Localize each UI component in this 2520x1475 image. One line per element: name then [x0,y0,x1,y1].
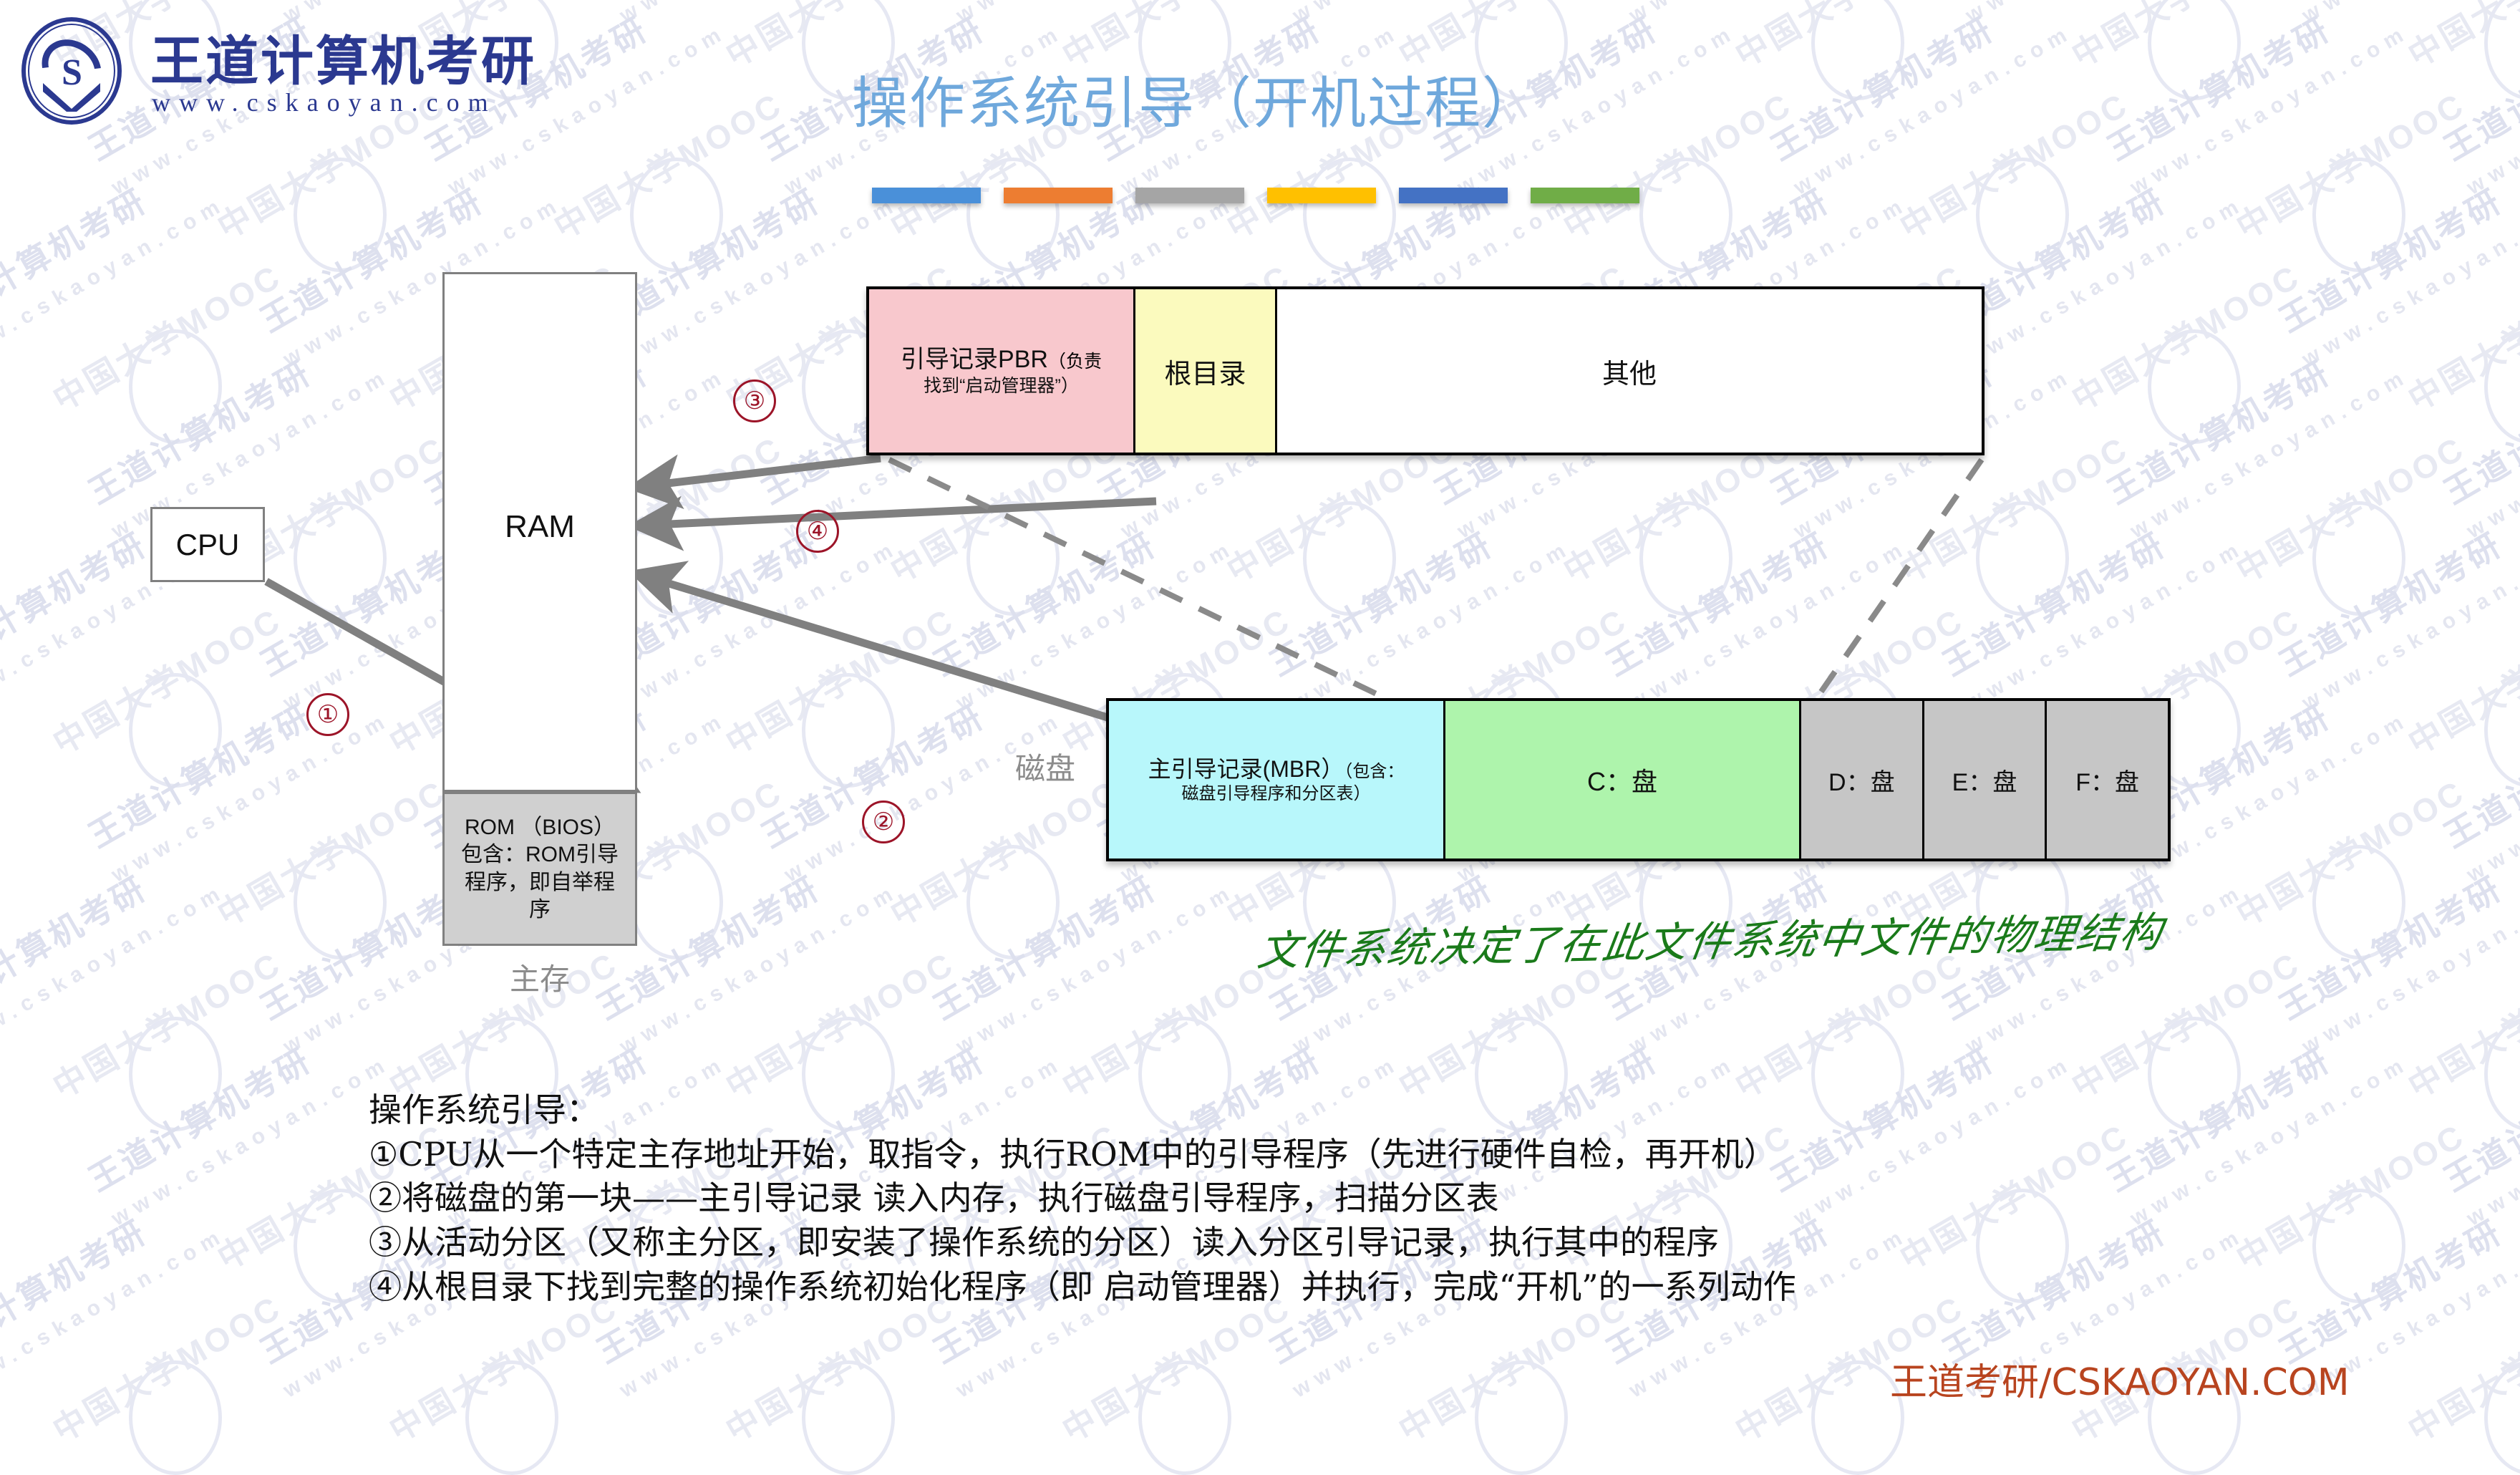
step-marker-1: ① [306,693,349,736]
dashed-guide-right [1798,460,1982,725]
rom-line-3: 程序，即自举程 [465,869,615,896]
notes-line-2: ②将磁盘的第一块——主引导记录 读入内存，执行磁盘引导程序，扫描分区表 [369,1176,1796,1221]
boot-process-notes: 操作系统引导： ①CPU从一个特定主存地址开始，取指令，执行ROM中的引导程序（… [369,1088,1796,1309]
title-accent-bars [872,188,1639,203]
mbr-paren: （包含： [1344,762,1404,781]
title-accent-bar-2 [1004,188,1113,203]
mbr-subtitle: 磁盘引导程序和分区表） [1182,783,1371,805]
brand-logo: S 王道计算机考研 www.cskaoyan.com [14,13,558,135]
mbr-title-row: 主引导记录(MBR）（包含： [1148,755,1405,783]
partition-f: F：盘 [2047,701,2168,859]
disk-label: 磁盘 [959,745,1131,788]
pbr-cell: 引导记录PBR（负责 找到“启动管理器”） [869,289,1135,453]
partition-c: C：盘 [1445,701,1801,859]
title-accent-bar-5 [1399,188,1508,203]
rom-line-1: ROM （BIOS） [465,814,615,841]
rom-bios-box: ROM （BIOS） 包含：ROM引导 程序，即自举程 序 [442,792,637,946]
notes-line-1: ①CPU从一个特定主存地址开始，取指令，执行ROM中的引导程序（先进行硬件自检，… [369,1133,1796,1177]
title-accent-bar-1 [872,188,981,203]
logo-s-glyph: S [62,52,82,94]
logo-chinese-name: 王道计算机考研 [150,19,536,95]
mbr-cell: 主引导记录(MBR）（包含： 磁盘引导程序和分区表） [1109,701,1445,859]
partition-d: D：盘 [1801,701,1924,859]
partition-layout-bar: 引导记录PBR（负责 找到“启动管理器”） 根目录 其他 [866,286,1984,455]
partition-e: E：盘 [1924,701,2047,859]
rom-line-4: 序 [529,896,551,924]
disk-layout-bar: 主引导记录(MBR）（包含： 磁盘引导程序和分区表） C：盘 D：盘 E：盘 F… [1106,698,2171,861]
page-title: 操作系统引导（开机过程） [852,59,1539,139]
pbr-subtitle: 找到“启动管理器”） [924,375,1079,397]
rom-line-2: 包含：ROM引导 [461,841,619,869]
title-accent-bar-6 [1531,188,1639,203]
logo-website-url: www.cskaoyan.com [152,87,497,117]
main-memory-label: 主存 [442,957,637,997]
logo-seal-icon: S [21,17,129,130]
notes-line-3: ③从活动分区（又称主分区，即安装了操作系统的分区）读入分区引导记录，执行其中的程… [369,1221,1796,1265]
title-accent-bar-3 [1135,188,1244,203]
title-accent-bar-4 [1267,188,1376,203]
step-marker-4: ④ [796,510,839,553]
step-marker-2: ② [862,801,905,843]
ram-label: RAM [442,506,637,548]
root-directory-cell: 根目录 [1135,289,1277,453]
dashed-guide-left [889,460,1440,725]
step-marker-3: ③ [733,379,776,422]
pbr-paren: （负责 [1048,352,1102,372]
notes-line-4: ④从根目录下找到完整的操作系统初始化程序（即 启动管理器）并执行，完成“开机”的… [369,1265,1796,1310]
pbr-title: 引导记录PBR [901,346,1048,373]
arrow-pbr-to-ram [637,458,881,487]
other-cell: 其他 [1277,289,1982,453]
cpu-box: CPU [150,507,265,582]
arrow-rootdir-to-ram [639,501,1156,526]
arrow-mbr-to-ram [639,574,1117,720]
mbr-title: 主引导记录(MBR） [1148,756,1344,782]
notes-heading: 操作系统引导： [369,1088,1796,1133]
footer-brand: 王道考研/CSKAOYAN.COM [1890,1352,2350,1406]
pbr-title-row: 引导记录PBR（负责 [901,344,1102,375]
